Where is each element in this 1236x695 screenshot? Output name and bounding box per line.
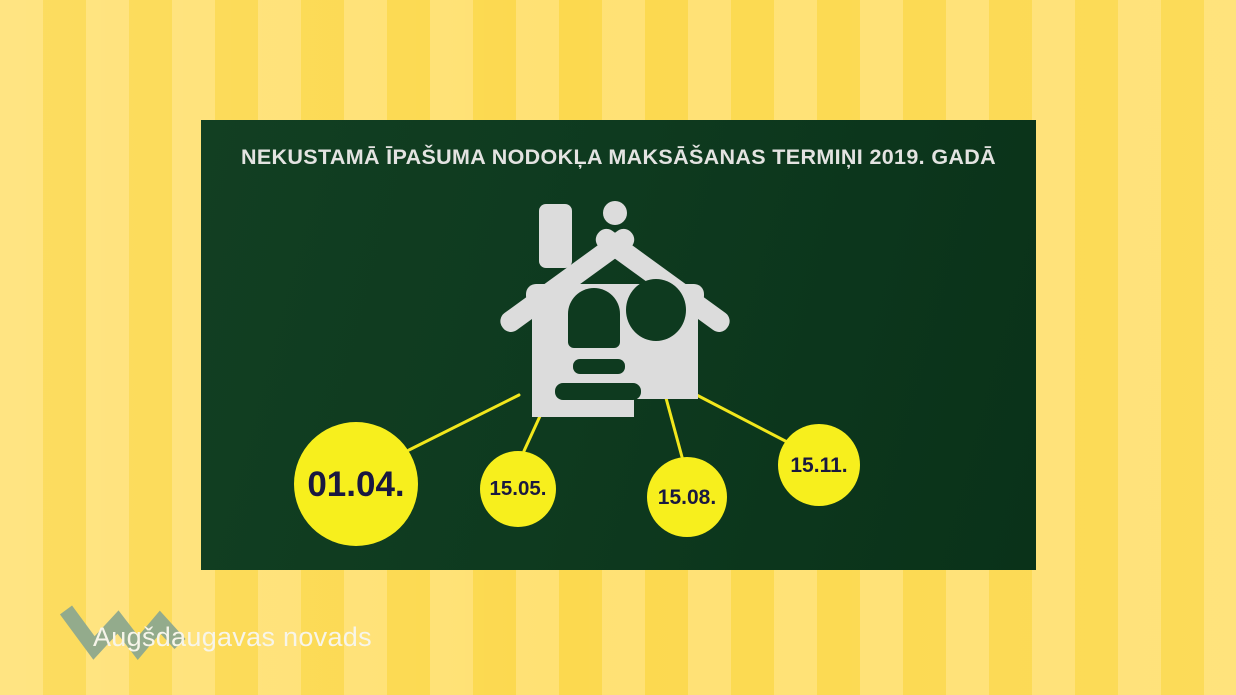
- deadline-bubble-15-05[interactable]: 15.05.: [480, 451, 556, 527]
- deadline-date-label: 15.05.: [490, 479, 547, 500]
- house-arched-window: [568, 288, 620, 348]
- house-detail-bar-1: [573, 359, 625, 374]
- deadline-date-label: 15.08.: [658, 487, 716, 508]
- house-chimney: [539, 204, 572, 268]
- house-round-window: [626, 279, 686, 341]
- house-roof-peak: [603, 201, 627, 225]
- deadline-bubble-15-08[interactable]: 15.08.: [647, 457, 727, 537]
- deadline-date-label: 01.04.: [307, 467, 404, 502]
- house-detail-bar-2: [555, 383, 641, 400]
- footer-logo: Augšdaugavas novads: [60, 600, 400, 670]
- deadline-bubble-15-11[interactable]: 15.11.: [778, 424, 860, 506]
- poster-canvas: NEKUSTAMĀ ĪPAŠUMA NODOKĻA MAKSĀŠANAS TER…: [0, 0, 1236, 695]
- deadline-bubble-01-04[interactable]: 01.04.: [294, 422, 418, 546]
- house-icon: [495, 192, 735, 417]
- deadline-date-label: 15.11.: [790, 455, 847, 476]
- green-content-panel: NEKUSTAMĀ ĪPAŠUMA NODOKĻA MAKSĀŠANAS TER…: [201, 120, 1036, 570]
- logo-text: Augšdaugavas novads: [93, 622, 372, 653]
